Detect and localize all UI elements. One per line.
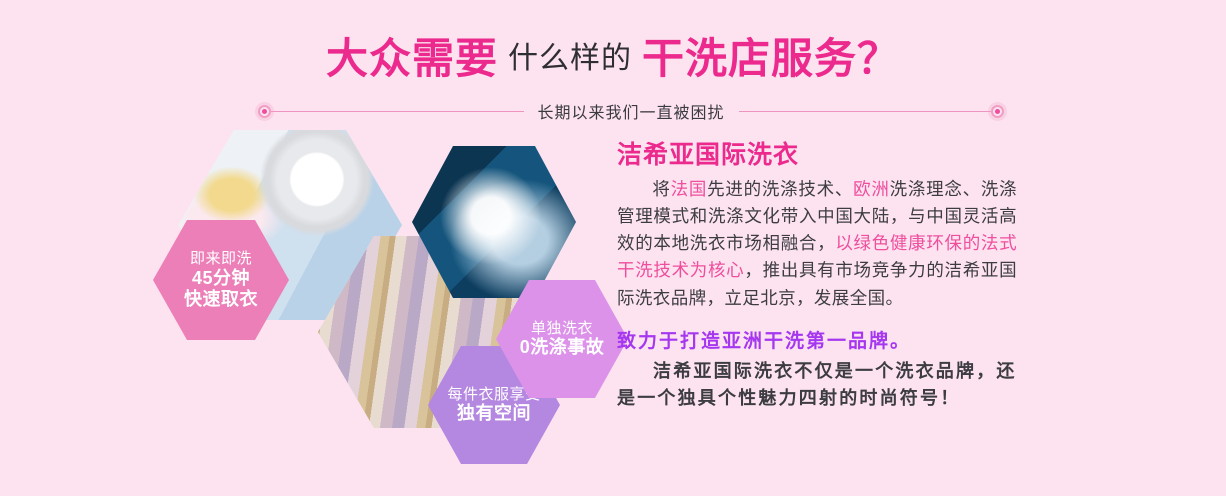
title-part-2: 什么样的 bbox=[508, 42, 632, 75]
feature-1-line-1: 即来即洗 bbox=[190, 250, 252, 268]
content-column: 洁希亚国际洗衣 将法国先进的洗涤技术、欧洲洗涤理念、洗涤管理模式和洗涤文化带入中… bbox=[617, 140, 1017, 412]
page-title: 大众需要什么样的干洗店服务？ bbox=[0, 38, 1226, 80]
title-part-3: 干洗店服务？ bbox=[642, 35, 900, 82]
divider-dot-left-icon bbox=[258, 105, 271, 118]
divider-rule-left bbox=[271, 111, 524, 112]
desc-text-2: 先进的洗涤技术、 bbox=[707, 179, 853, 199]
divider-dot-right-icon bbox=[991, 105, 1004, 118]
brand-tagline: 致力于打造亚洲干洗第一品牌。 bbox=[617, 330, 1017, 355]
brand-description: 将法国先进的洗涤技术、欧洲洗涤理念、洗涤管理模式和洗涤文化带入中国大陆，与中国灵… bbox=[617, 176, 1017, 312]
feature-3-line-2: 0洗涤事故 bbox=[520, 337, 605, 358]
desc-text-1: 将 bbox=[652, 179, 671, 199]
subtitle-divider: 长期以来我们一直被困扰 bbox=[258, 100, 1004, 122]
closing-statement: 洁希亚国际洗衣不仅是一个洗衣品牌，还是一个独具个性魅力四射的时尚符号！ bbox=[617, 358, 1017, 412]
divider-rule-right bbox=[739, 111, 992, 112]
subtitle-text: 长期以来我们一直被困扰 bbox=[524, 99, 739, 123]
promo-banner: 大众需要什么样的干洗店服务？ 长期以来我们一直被困扰 即来即洗 45分钟 快速取… bbox=[0, 0, 1226, 496]
brand-heading: 洁希亚国际洗衣 bbox=[617, 140, 1017, 170]
desc-highlight-france: 法国 bbox=[671, 179, 708, 199]
feature-1-line-3: 快速取衣 bbox=[184, 289, 258, 310]
closing-text: 洁希亚国际洗衣不仅是一个洗衣品牌，还是一个独具个性魅力四射的时尚符号！ bbox=[617, 361, 1017, 408]
feature-1-line-2: 45分钟 bbox=[192, 268, 250, 289]
title-part-1: 大众需要 bbox=[326, 35, 498, 82]
feature-2-line-2: 独有空间 bbox=[457, 403, 531, 424]
feature-3-line-1: 单独洗衣 bbox=[531, 320, 593, 338]
image-collage: 即来即洗 45分钟 快速取衣 每件衣服享受 独有空间 单独洗衣 0洗涤事故 bbox=[150, 128, 630, 474]
desc-highlight-europe: 欧洲 bbox=[853, 179, 890, 199]
